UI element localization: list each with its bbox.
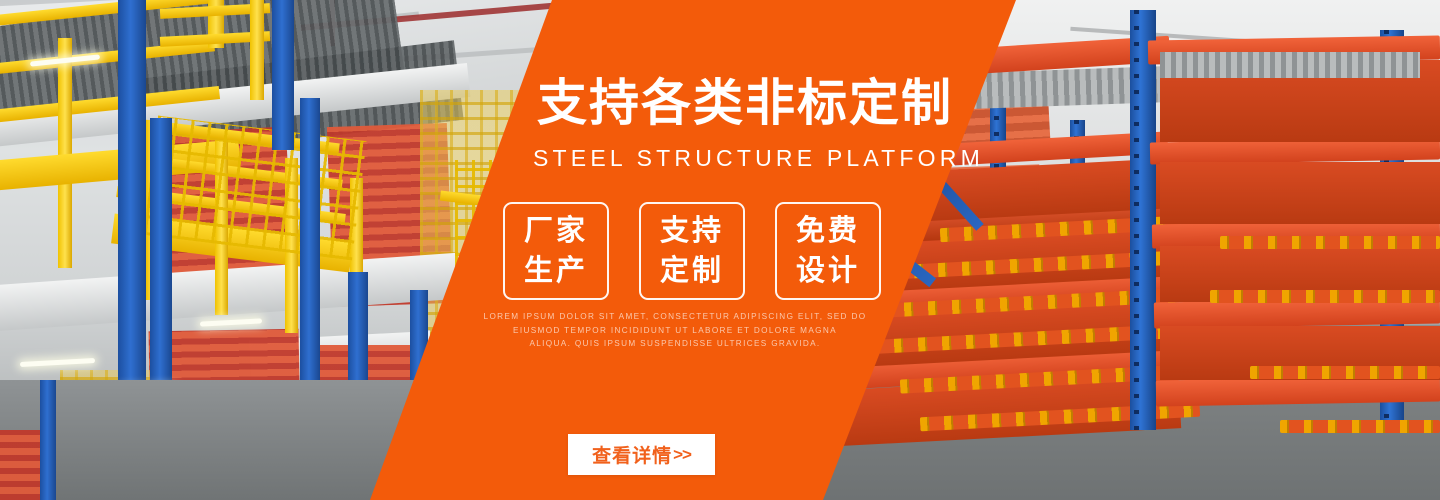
badge-line-1: 免费 — [796, 211, 860, 251]
steel-column — [300, 98, 320, 398]
badge-line-2: 定制 — [660, 251, 724, 291]
description-text: LOREM IPSUM DOLOR SIT AMET, CONSECTETUR … — [480, 310, 870, 351]
badge-supports-customization[interactable]: 支持 定制 — [639, 202, 745, 300]
roller-lane — [1250, 366, 1440, 379]
guardrail-mesh — [143, 116, 366, 261]
shelf-deck — [1160, 162, 1440, 224]
subtitle: STEEL STRUCTURE PLATFORM — [533, 144, 923, 172]
roller-lane — [1220, 236, 1440, 249]
ceiling-light — [20, 358, 95, 367]
promo-banner: 支持各类非标定制 STEEL STRUCTURE PLATFORM 厂家 生产 … — [0, 0, 1440, 500]
chevron-right-icon: >> — [673, 445, 691, 465]
badge-manufacturer-production[interactable]: 厂家 生产 — [503, 202, 609, 300]
feature-badges: 厂家 生产 支持 定制 免费 设计 — [503, 202, 881, 300]
roller-lane — [1210, 290, 1440, 303]
rack-upright — [1130, 10, 1156, 430]
badge-line-2: 生产 — [524, 251, 588, 291]
red-rack — [0, 430, 40, 500]
steel-column — [40, 380, 56, 500]
view-details-button[interactable]: 查看详情 >> — [568, 434, 715, 475]
panel-content: 支持各类非标定制 STEEL STRUCTURE PLATFORM 厂家 生产 … — [380, 0, 1020, 500]
description-line: EIUSMOD TEMPOR INCIDIDUNT UT LABORE ET D… — [480, 324, 870, 338]
badge-line-1: 支持 — [660, 211, 724, 251]
rack-beam — [1156, 376, 1440, 407]
badge-free-design[interactable]: 免费 设计 — [775, 202, 881, 300]
badge-line-2: 设计 — [796, 251, 860, 291]
roller-grating — [1160, 52, 1420, 78]
description-line: ALIQUA. QUIS IPSUM SUSPENDISSE ULTRICES … — [480, 337, 870, 351]
badge-line-1: 厂家 — [524, 211, 588, 251]
guardrail-post — [250, 0, 264, 100]
roller-lane — [1280, 420, 1440, 433]
ceiling-light — [200, 318, 262, 326]
view-details-label: 查看详情 — [592, 441, 672, 468]
page-title: 支持各类非标定制 — [537, 74, 967, 132]
steel-column — [272, 0, 294, 150]
description-line: LOREM IPSUM DOLOR SIT AMET, CONSECTETUR … — [480, 310, 870, 324]
